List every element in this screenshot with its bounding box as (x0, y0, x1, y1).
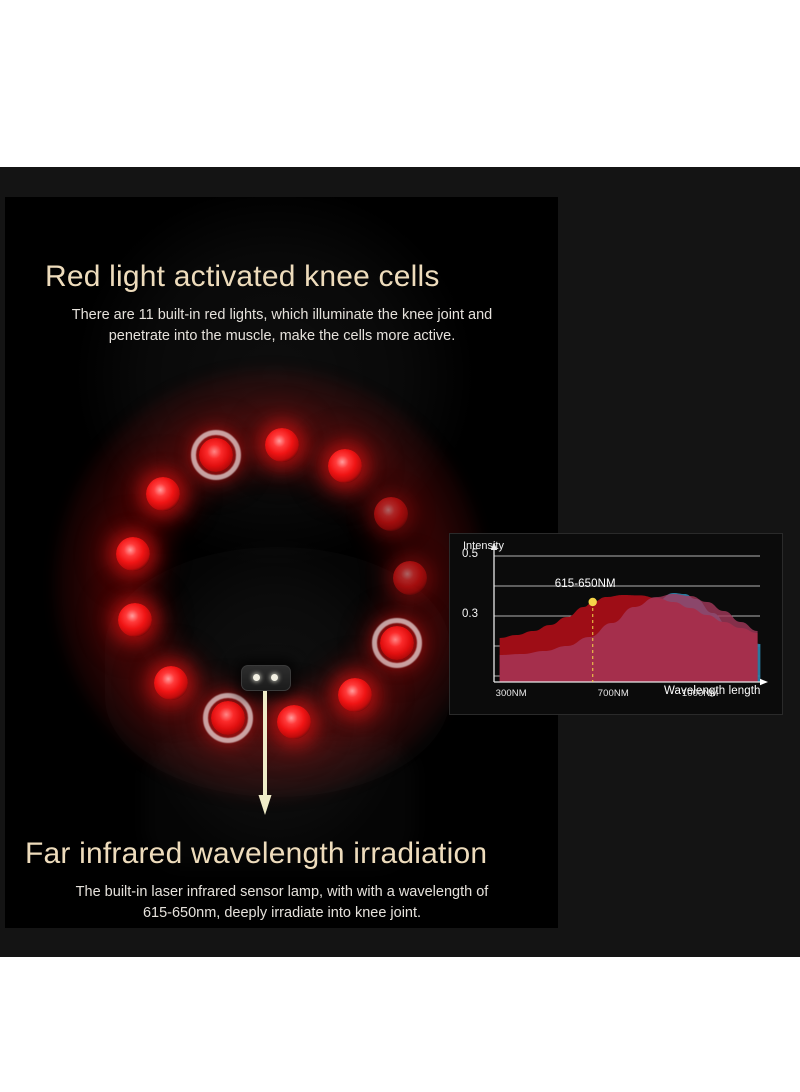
led-light-highlighted (211, 701, 245, 735)
chart-annotation-marker (589, 598, 597, 606)
chart-x-tick-label: 700NM (598, 688, 629, 699)
infographic-dark-panel: Red light activated knee cells There are… (0, 167, 800, 957)
bottom-body-text: The built-in laser infrared sensor lamp,… (17, 882, 547, 923)
chart-x-axis-arrow (760, 679, 768, 685)
led-light (265, 428, 299, 462)
chart-x-axis-label: Wavelength length (664, 685, 761, 697)
led-light (328, 449, 362, 483)
led-light (146, 477, 180, 511)
led-light (116, 537, 150, 571)
led-light-highlighted (199, 438, 233, 472)
sensor-lens-left (253, 674, 260, 681)
chart-annotation-label: 615-650NM (555, 578, 616, 590)
led-light (393, 561, 427, 595)
dual-sensor-window (241, 665, 291, 691)
product-infographic: Red light activated knee cells There are… (0, 0, 800, 1092)
chart-y-tick-label: 0.5 (462, 548, 478, 560)
chart-x-tick-label: 300NM (496, 688, 527, 699)
top-body-text: There are 11 built-in red lights, which … (17, 305, 547, 346)
chart-y-axis-arrow (491, 542, 497, 550)
led-light (374, 497, 408, 531)
led-light (118, 603, 152, 637)
led-light (277, 705, 311, 739)
sensor-lens-right (271, 674, 278, 681)
far-infrared-emission-arrow-icon (258, 691, 272, 816)
led-light-highlighted (380, 626, 414, 660)
top-heading: Red light activated knee cells (45, 260, 440, 294)
chart-y-tick-label: 0.3 (462, 608, 478, 620)
led-light (154, 666, 188, 700)
intensity-spectrum-chart: Intensity 0.50.3300NM700NM1000NMWaveleng… (449, 533, 783, 715)
bottom-heading: Far infrared wavelength irradiation (25, 837, 487, 871)
